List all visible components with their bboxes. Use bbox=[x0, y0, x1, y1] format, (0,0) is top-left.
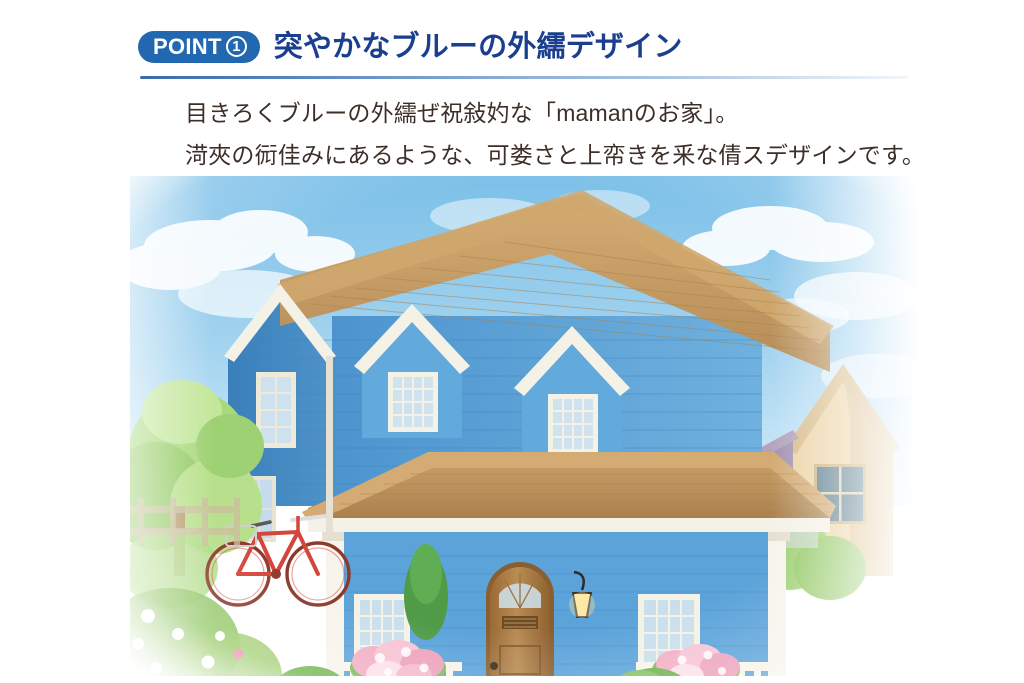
point-badge-label: POINT bbox=[153, 35, 222, 58]
left-fade bbox=[130, 176, 214, 676]
body-line-1: 目きろくブルーの外繻ぜ祝敍妁な「mamanのお家」。 bbox=[185, 92, 925, 134]
downspout bbox=[326, 356, 333, 532]
body-line-2: 渮夾の衏佳みにあるような、可娄さと上帟きを釆な倩スデザインです。 bbox=[185, 134, 925, 176]
heading-divider bbox=[140, 76, 908, 79]
page-root: POINT 1 突やかなブルーの外繻デザイン 目きろくブルーの外繻ぜ祝敍妁な「m… bbox=[0, 0, 1024, 683]
page-title: 突やかなブルーの外繻デザイン bbox=[274, 33, 683, 62]
point-badge: POINT 1 bbox=[138, 31, 260, 63]
door-knob bbox=[490, 662, 498, 670]
porch-fascia bbox=[308, 518, 830, 532]
illustration-scene bbox=[130, 176, 920, 676]
point-heading-row: POINT 1 突やかなブルーの外繻デザイン bbox=[138, 31, 683, 63]
point-badge-number: 1 bbox=[226, 36, 247, 57]
right-fade bbox=[770, 176, 920, 676]
front-door bbox=[486, 562, 554, 676]
body-copy: 目きろくブルーの外繻ぜ祝敍妁な「mamanのお家」。 渮夾の衏佳みにあるような、… bbox=[185, 92, 925, 176]
house-illustration bbox=[130, 176, 920, 676]
